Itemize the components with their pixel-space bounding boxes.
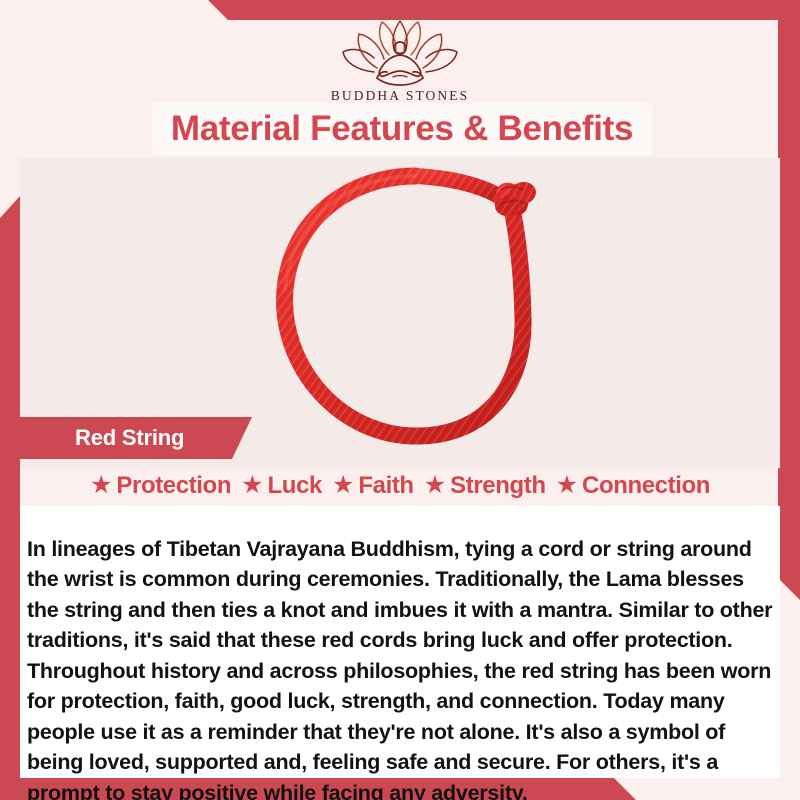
brand-wordmark: BUDDHA STONES	[331, 88, 469, 104]
benefit-item-luck: ★ Luck	[241, 472, 322, 500]
headline-plate: Material Features & Benefits	[152, 103, 652, 155]
benefit-item-connection: ★ Connection	[556, 472, 710, 500]
brand-logo: BUDDHA STONES	[0, 16, 800, 104]
star-icon: ★	[90, 473, 112, 498]
benefit-item-protection: ★ Protection	[90, 472, 231, 500]
benefit-item-faith: ★ Faith	[332, 472, 414, 500]
product-name-label: Red String	[75, 425, 184, 451]
product-name-banner: Red String	[20, 417, 252, 459]
benefit-label: Faith	[358, 472, 413, 500]
left-red-bar	[0, 196, 20, 800]
benefit-label: Protection	[116, 472, 231, 500]
description-paragraph: In lineages of Tibetan Vajrayana Buddhis…	[27, 534, 775, 800]
page-title: Material Features & Benefits	[171, 109, 633, 149]
poster-root: BUDDHA STONES Material Features & Benefi…	[0, 0, 800, 800]
star-icon: ★	[332, 473, 354, 498]
product-image	[255, 160, 575, 460]
star-icon: ★	[556, 473, 578, 498]
benefit-label: Strength	[450, 472, 545, 500]
benefits-row: ★ Protection ★ Luck ★ Faith ★ Strength ★…	[20, 466, 780, 506]
star-icon: ★	[424, 473, 446, 498]
benefit-label: Connection	[582, 472, 710, 500]
lotus-meditation-icon	[341, 16, 459, 86]
benefit-label: Luck	[268, 472, 322, 500]
benefit-item-strength: ★ Strength	[424, 472, 546, 500]
star-icon: ★	[241, 473, 263, 498]
